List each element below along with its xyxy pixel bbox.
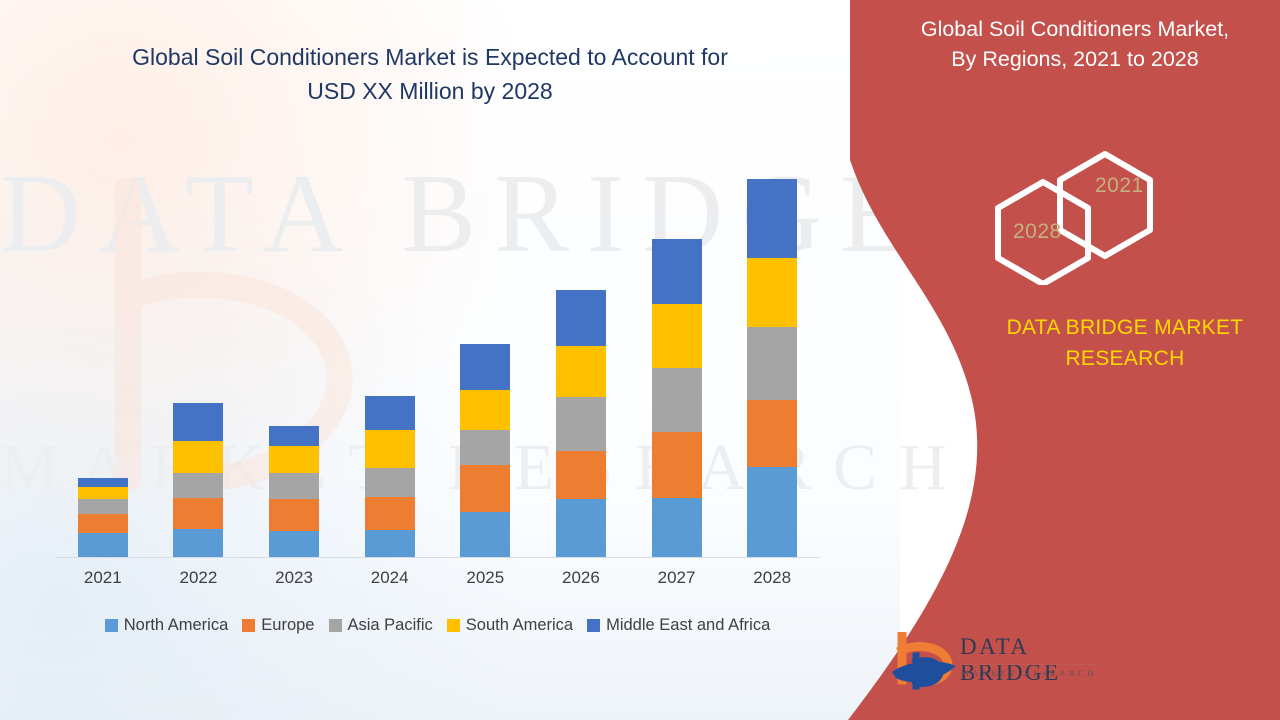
bar-segment xyxy=(747,179,797,258)
bar-segment xyxy=(365,530,415,557)
legend-label: Asia Pacific xyxy=(348,616,433,635)
bar-segment xyxy=(365,430,415,468)
bar-segment xyxy=(269,446,319,473)
bar-2022 xyxy=(173,403,223,557)
bar-segment xyxy=(173,529,223,557)
bar-2027 xyxy=(652,239,702,557)
legend-label: North America xyxy=(124,616,229,635)
panel-title: Global Soil Conditioners Market, By Regi… xyxy=(885,14,1265,74)
logo-subtitle: MARKET RESEARCH xyxy=(961,668,1097,678)
bar-segment xyxy=(173,473,223,498)
bar-segment xyxy=(460,390,510,430)
bar-segment xyxy=(173,403,223,441)
bar-segment xyxy=(78,533,128,557)
hexagon-outlines-icon xyxy=(985,150,1180,285)
legend-item-asia-pacific[interactable]: Asia Pacific xyxy=(329,616,433,635)
bar-segment xyxy=(747,467,797,557)
hexagon-year-2021: 2021 xyxy=(1095,174,1144,198)
bar-segment xyxy=(556,451,606,499)
legend-label: South America xyxy=(466,616,573,635)
bar-segment xyxy=(269,531,319,557)
bar-segment xyxy=(652,239,702,304)
chart-title-line-1: Global Soil Conditioners Market is Expec… xyxy=(55,40,805,74)
logo-divider xyxy=(960,664,1100,665)
bar-segment xyxy=(460,430,510,465)
bar-segment xyxy=(556,290,606,346)
legend-label: Middle East and Africa xyxy=(606,616,770,635)
legend-swatch-icon xyxy=(242,619,255,632)
bar-segment xyxy=(78,514,128,533)
legend-swatch-icon xyxy=(329,619,342,632)
chart-title-line-2: USD XX Million by 2028 xyxy=(55,74,805,108)
bar-segment xyxy=(365,497,415,530)
x-tick-2024: 2024 xyxy=(350,568,430,588)
hexagon-badges: 2021 2028 xyxy=(985,150,1180,285)
x-tick-2022: 2022 xyxy=(158,568,238,588)
bar-segment xyxy=(747,258,797,327)
bar-segment xyxy=(78,487,128,499)
bar-segment xyxy=(460,512,510,557)
bar-segment xyxy=(173,441,223,473)
x-tick-2026: 2026 xyxy=(541,568,621,588)
bar-group xyxy=(55,150,820,557)
bar-segment xyxy=(652,368,702,432)
hexagon-year-2028: 2028 xyxy=(1013,220,1062,244)
chart-title: Global Soil Conditioners Market is Expec… xyxy=(55,40,805,108)
bar-2021 xyxy=(78,478,128,557)
bar-segment xyxy=(365,396,415,430)
bar-segment xyxy=(652,498,702,557)
legend-swatch-icon xyxy=(587,619,600,632)
bar-segment xyxy=(460,465,510,512)
bar-2023 xyxy=(269,426,319,557)
brand-headline: DATA BRIDGE MARKET RESEARCH xyxy=(960,312,1280,374)
bar-2024 xyxy=(365,396,415,557)
x-tick-2028: 2028 xyxy=(732,568,812,588)
x-axis-labels: 20212022202320242025202620272028 xyxy=(55,568,820,588)
bar-segment xyxy=(78,478,128,487)
bar-segment xyxy=(556,499,606,557)
panel-title-line-1: Global Soil Conditioners Market, xyxy=(885,14,1265,44)
legend-item-europe[interactable]: Europe xyxy=(242,616,314,635)
bar-segment xyxy=(747,400,797,467)
x-axis-line xyxy=(55,557,820,558)
x-tick-2021: 2021 xyxy=(63,568,143,588)
brand-headline-line-2: RESEARCH xyxy=(960,343,1280,374)
bar-segment xyxy=(269,499,319,531)
bar-segment xyxy=(652,304,702,368)
bar-segment xyxy=(269,473,319,499)
brand-headline-line-1: DATA BRIDGE MARKET xyxy=(960,312,1280,343)
bar-segment xyxy=(173,498,223,529)
bar-2026 xyxy=(556,290,606,557)
bar-2025 xyxy=(460,344,510,557)
company-logo: DATA BRIDGE MARKET RESEARCH xyxy=(890,630,1105,696)
logo-wordmark: DATA BRIDGE xyxy=(960,634,1105,686)
bar-segment xyxy=(652,432,702,498)
chart-plot-area xyxy=(55,150,820,558)
bar-segment xyxy=(556,346,606,397)
x-tick-2027: 2027 xyxy=(637,568,717,588)
legend-item-middle-east-and-africa[interactable]: Middle East and Africa xyxy=(587,616,770,635)
bar-2028 xyxy=(747,179,797,557)
legend-swatch-icon xyxy=(447,619,460,632)
bar-segment xyxy=(460,344,510,390)
bar-segment xyxy=(556,397,606,451)
legend-item-south-america[interactable]: South America xyxy=(447,616,573,635)
legend-label: Europe xyxy=(261,616,314,635)
infographic-root: DATA BRIDGE MARKET RESEARCH Global Soil … xyxy=(0,0,1280,720)
legend-swatch-icon xyxy=(105,619,118,632)
panel-title-line-2: By Regions, 2021 to 2028 xyxy=(885,44,1265,74)
logo-mark-icon xyxy=(890,632,960,692)
legend-item-north-america[interactable]: North America xyxy=(105,616,229,635)
x-tick-2025: 2025 xyxy=(445,568,525,588)
bar-segment xyxy=(269,426,319,446)
bar-segment xyxy=(78,499,128,514)
x-tick-2023: 2023 xyxy=(254,568,334,588)
chart-legend: North AmericaEuropeAsia PacificSouth Ame… xyxy=(55,616,820,635)
bar-segment xyxy=(365,468,415,497)
bar-segment xyxy=(747,327,797,400)
